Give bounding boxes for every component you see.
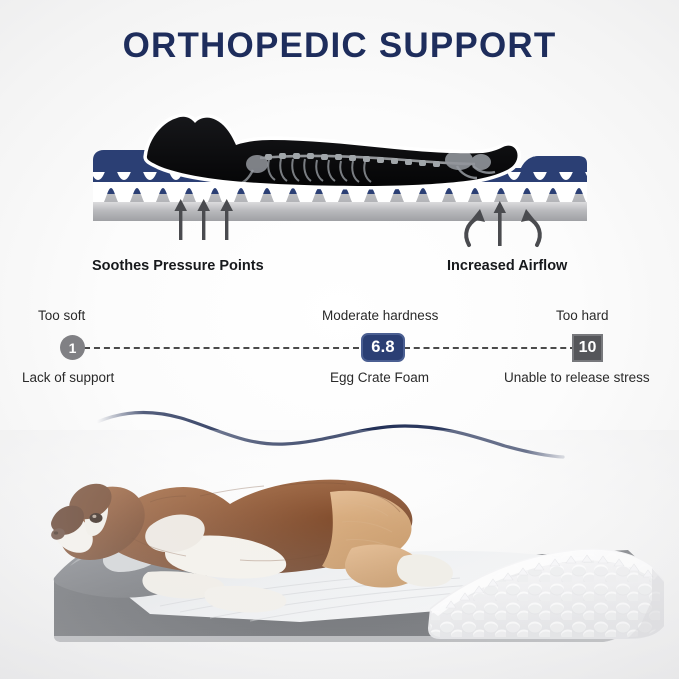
scale-badge-min: 1 — [60, 335, 85, 360]
scale-sublabel-egg-crate-foam: Egg Crate Foam — [330, 370, 429, 385]
caption-increased-airflow: Increased Airflow — [447, 258, 567, 274]
scale-label-moderate-hardness: Moderate hardness — [322, 308, 438, 323]
base-foam-lower — [93, 202, 587, 221]
scale-dashed-line-right — [404, 347, 576, 349]
mattress-cross-section-diagram — [85, 98, 595, 248]
hardness-scale: Too soft Moderate hardness Too hard 1 6.… — [0, 302, 679, 394]
scale-sublabel-unable-to-release-stress: Unable to release stress — [504, 370, 650, 385]
scale-label-too-hard: Too hard — [556, 308, 609, 323]
scene-vignette — [0, 430, 679, 679]
scale-badge-value: 6.8 — [361, 333, 405, 362]
scale-dashed-line-left — [84, 347, 359, 349]
page-title: ORTHOPEDIC SUPPORT — [0, 24, 679, 68]
product-photo-dog-on-bed — [0, 430, 679, 679]
infographic-page: ORTHOPEDIC SUPPORT — [0, 0, 679, 679]
scale-sublabel-lack-of-support: Lack of support — [22, 370, 114, 385]
caption-soothes-pressure-points: Soothes Pressure Points — [92, 258, 264, 274]
scale-badge-max: 10 — [572, 334, 603, 362]
scale-label-too-soft: Too soft — [38, 308, 85, 323]
